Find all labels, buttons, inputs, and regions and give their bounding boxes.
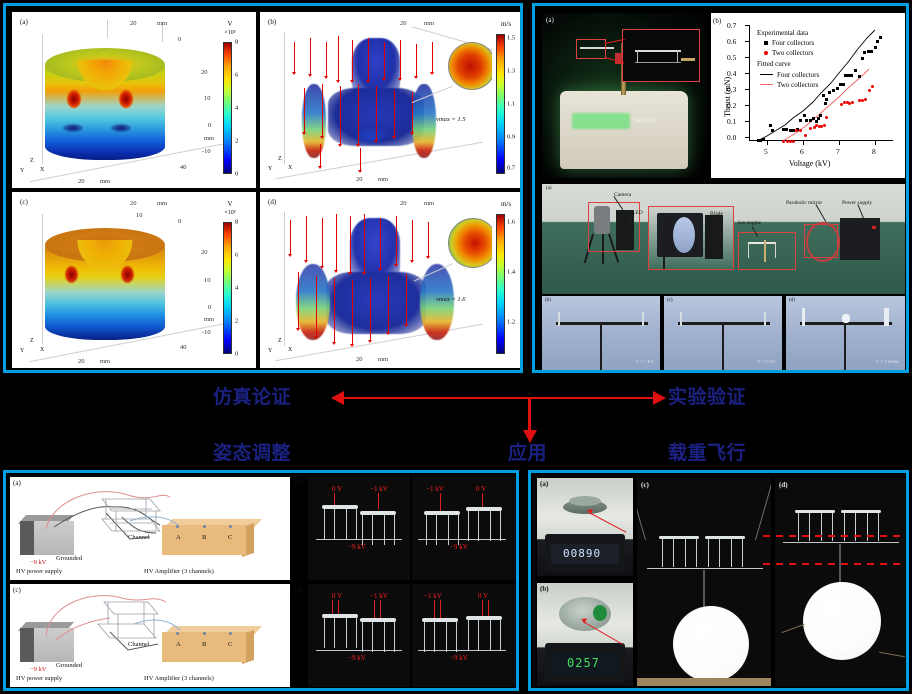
colorbar-c-exponent: ×10³ (214, 210, 246, 216)
colorbar-d-title: m/s (494, 200, 518, 208)
simulation-panel-inner: (a) 20 mm 0 20 10 0 (6, 6, 520, 370)
triad-z: Z (278, 338, 282, 344)
axis-unit: mm (157, 20, 167, 27)
axis-tick: 10 (204, 277, 211, 284)
supply-name-c: HV power supply (16, 675, 62, 682)
subpanel-d: (d) (260, 192, 520, 368)
setup-label-camera: Camera (614, 192, 631, 198)
balance-photo-a: (a) 00890 (537, 478, 633, 576)
axis-tick: 20 (78, 178, 85, 185)
payload-panel-inner: (a) 00890 (b) 0257 (531, 473, 906, 688)
subpanel-d-tag: (d) (268, 198, 276, 206)
flow-frame-d: (d) V = Vbreak (786, 296, 905, 370)
axis-tick: 20 (78, 358, 85, 365)
chart-tag: (b) (713, 17, 721, 25)
colorbar-tick: 2 (235, 318, 238, 325)
axis-tick: 0 (208, 304, 211, 311)
schematic-c-wires (10, 584, 290, 687)
flow-frame-c: (c) V = 8 kV (664, 296, 782, 370)
schematic-c-tag: (c) (13, 586, 21, 594)
label-application: 应用 (508, 438, 547, 465)
colorbar-tick: 4 (235, 285, 238, 292)
colorbar-b (496, 34, 505, 174)
colorbar-b-card: m/s 1.5 1.3 1.1 0.9 0.7 (492, 12, 520, 188)
colorbar-tick: 6 (235, 252, 238, 259)
colorbar-tick: 6 (235, 72, 238, 79)
alignment-guide-upper (763, 535, 909, 537)
triad-x: X (288, 347, 292, 353)
payload-ball-d (803, 582, 881, 660)
colorbar-tick: 0 (235, 171, 238, 178)
axis-tick: 20 (201, 249, 208, 256)
axis-tick: 20 (130, 200, 137, 207)
setup-label-ion-engine: Ion engine (738, 220, 761, 226)
label-simulation: 仿真论证 (213, 382, 291, 409)
thruster-photo-d-left: 0 V −1 kV −9 kV (308, 584, 410, 687)
triad-z: Z (30, 158, 34, 164)
colorbar-tick: 8 (235, 219, 238, 226)
schematic-a: (a) Channel A B C (10, 477, 290, 580)
voltage-annotation: 0 V (476, 485, 486, 493)
photo-pair-b-tag: (b) (295, 479, 303, 487)
setup-label-led: LED (632, 210, 643, 216)
voltage-annotation: 0 V (332, 485, 342, 493)
voltage-annotation: −1 kV (370, 592, 388, 600)
voltage-annotation: −1 kV (426, 485, 444, 493)
axis-unit: mm (100, 178, 110, 185)
zoom-inset (622, 29, 700, 82)
balance-photo-tag: (a) (546, 16, 554, 24)
flow-frame-b: (b) V = 7 kV (542, 296, 660, 370)
payload-flight-panel: (a) 00890 (b) 0257 (528, 470, 909, 691)
figure-canvas: (a) 20 mm 0 20 10 0 (0, 0, 912, 694)
label-experiment: 实验验证 (668, 382, 746, 409)
axis-tick: 20 (356, 176, 363, 183)
setup-label-blade: Blade (710, 211, 723, 217)
attitude-control-panel: (a) Channel A B C (3, 470, 519, 691)
arrow-head-left (331, 391, 344, 405)
axis-tick: 20 (400, 200, 407, 207)
voltage-annotation: −1 kV (370, 485, 388, 493)
arrow-shaft-horizontal (344, 397, 656, 400)
subpanel-a: (a) 20 mm 0 20 10 0 (12, 12, 256, 188)
axis-tick: -10 (202, 329, 211, 336)
axis-unit: mm (157, 200, 167, 207)
subpanel-b-tag: (b) (268, 18, 276, 26)
axis-unit: mm (424, 200, 434, 207)
triad-y: Y (268, 166, 272, 172)
axis-unit: mm (100, 358, 110, 365)
subpanel-b: (b) (260, 12, 520, 188)
schematic-a-tag: (a) (13, 479, 21, 487)
legend-item-two-curve: Two collectors (757, 80, 819, 90)
legend-item-four-scatter: Four collectors (757, 38, 819, 48)
colorbar-tick: 0.9 (507, 134, 515, 141)
colorbar-a-title: V (218, 20, 242, 28)
experimental-setup-photo: (a) Camera LED Blade (542, 184, 905, 294)
balance-reading-b: 0257 (567, 656, 600, 670)
axis-tick: 40 (180, 344, 187, 351)
photo-pair-d-tag: (d) (295, 586, 303, 594)
flight-photo-c: (c) (637, 478, 771, 686)
legend-item-four-curve: Four collectors (757, 70, 819, 80)
colorbar-tick: 8 (235, 39, 238, 46)
axis-tick: 10 (136, 212, 143, 219)
colorbar-tick: 2 (235, 138, 238, 145)
flight-photo-d: (d) (775, 478, 906, 686)
balance-b-tag: (b) (540, 585, 549, 593)
vmax-label-d: vmax = 1.6 (436, 296, 465, 303)
flight-d-tag: (d) (779, 481, 788, 489)
colorbar-d-card: m/s 1.6 1.4 1.2 (492, 192, 520, 368)
colorbar-tick: 1.4 (507, 269, 515, 276)
flight-c-tag: (c) (641, 481, 649, 489)
legend-label: Two collectors (772, 48, 813, 58)
thrust-panel-inner: (a) balance (535, 6, 906, 370)
balance-reading-a: 00890 (563, 547, 601, 560)
payload-ball-c (673, 606, 749, 682)
thrust-chart: (b) 0.7 0.6 0.5 0.4 0.3 0.2 0.1 0.0 (711, 13, 905, 178)
label-attitude-control: 姿态调整 (213, 438, 291, 465)
triad-x: X (40, 347, 44, 353)
balance-photo-b: (b) 0257 (537, 583, 633, 686)
setup-photo-tag: (a) (546, 186, 552, 191)
legend-label: Four collectors (777, 70, 819, 80)
axis-tick: -10 (202, 148, 211, 155)
axis-tick: 40 (180, 164, 187, 171)
zoom-region-box (576, 39, 606, 59)
grounded-label-c: Grounded (56, 662, 82, 669)
potential-cylinder-a (45, 48, 165, 160)
triad-y: Y (268, 348, 272, 354)
legend-swatch-line-red (760, 84, 773, 85)
colorbar-a-exponent: ×10³ (214, 30, 246, 36)
legend-header-fitted: Fitted curve (757, 59, 819, 69)
axis-tick: 20 (400, 20, 407, 27)
subpanel-c: (c) 20 mm 10 0 20 10 0 mm -10 (12, 192, 256, 368)
simulation-panel: (a) 20 mm 0 20 10 0 (3, 3, 523, 373)
colorbar-tick: 0.7 (507, 165, 515, 172)
colorbar-c-title: V (218, 200, 242, 208)
balance-label: balance (634, 116, 655, 124)
voltage-annotation: −1 kV (424, 592, 442, 600)
axis-tick: 0 (208, 122, 211, 129)
legend-label: Four collectors (772, 38, 814, 48)
legend-swatch-circle (764, 51, 768, 55)
potential-cylinder-c (45, 228, 165, 340)
amplifier-name-c: HV Amplifier (3 channels) (144, 675, 214, 682)
flow-frame-b-voltage: V = 7 kV (635, 360, 654, 365)
velocity-plume-d (296, 218, 456, 350)
plume-inset-d (448, 218, 498, 268)
legend-swatch-square (764, 41, 768, 45)
axis-tick: 0 (178, 218, 181, 225)
colorbar-tick: 1.2 (507, 319, 515, 326)
voltage-annotation: 0 V (478, 592, 488, 600)
triad-x: X (40, 167, 44, 173)
amplifier-name-a: HV Amplifier (3 channels) (144, 568, 214, 575)
alignment-guide-lower (763, 563, 909, 565)
subpanel-a-tag: (a) (20, 18, 28, 26)
photo-pair-b: (b) 0 V −1 kV −9 kV (294, 477, 516, 580)
label-payload-flight: 载重飞行 (668, 438, 746, 465)
arrow-shaft-vertical (528, 397, 531, 431)
axis-tick: 20 (201, 69, 208, 76)
arrow-head-right (653, 391, 666, 405)
colorbar-tick: 1.3 (507, 68, 515, 75)
attitude-panel-inner: (a) Channel A B C (6, 473, 516, 688)
flow-frame-b-tag: (b) (545, 298, 551, 303)
balance-a-tag: (a) (540, 480, 548, 488)
photo-pair-d: (d) 0 V −1 kV −9 kV (294, 584, 516, 687)
colorbar-tick: 1.1 (507, 101, 515, 108)
subpanel-c-tag: (c) (20, 198, 28, 206)
supply-name-a: HV power supply (16, 568, 62, 575)
flow-frame-d-tag: (d) (789, 298, 795, 303)
supply-voltage-c: −9 kV (30, 666, 47, 673)
flow-frame-c-voltage: V = 8 kV (757, 360, 776, 365)
colorbar-b-title: m/s (494, 20, 518, 28)
triad-x: X (288, 165, 292, 171)
axis-unit: mm (378, 176, 388, 183)
thruster-photo-d-right: −1 kV 0 V −9 kV (412, 584, 516, 687)
thruster-photo-b-right: −1 kV 0 V −9 kV (412, 477, 516, 580)
triad-z: Z (278, 156, 282, 162)
triad-y: Y (20, 168, 24, 174)
colorbar-tick: 1.5 (507, 35, 515, 42)
axis-unit: mm (204, 316, 214, 323)
thrust-measurement-panel: (a) balance (532, 3, 909, 373)
schematic-a-wires (10, 477, 290, 580)
axis-tick: 0 (178, 36, 181, 43)
chart-legend: Experimental data Four collectors Two co… (757, 27, 819, 90)
voltage-annotation: 0 V (332, 592, 342, 600)
colorbar-tick: 1.6 (507, 219, 515, 226)
schematic-c: (c) Channel A B C (10, 584, 290, 687)
legend-item-two-scatter: Two collectors (757, 48, 819, 58)
axis-tick: 20 (130, 20, 137, 27)
axis-tick: 20 (356, 356, 363, 363)
axis-unit: mm (424, 20, 434, 27)
colorbar-a (223, 42, 232, 174)
plume-inset-b (448, 42, 496, 90)
colorbar-d (496, 214, 505, 354)
axis-unit: mm (204, 135, 214, 142)
triad-z: Z (30, 338, 34, 344)
flow-frame-d-voltage: V = Vbreak (876, 360, 899, 365)
vmax-label-b: vmax = 1.5 (436, 116, 465, 123)
supply-voltage-a: −9 kV (30, 559, 47, 566)
axis-unit: mm (378, 356, 388, 363)
legend-label: Two collectors (777, 80, 818, 90)
colorbar-c (223, 222, 232, 354)
colorbar-a-symbol: V (227, 20, 232, 28)
legend-header-experimental: Experimental data (757, 28, 819, 38)
center-arrow-diagram: 仿真论证 实验验证 姿态调整 应用 载重飞行 (0, 376, 912, 466)
legend-swatch-line-black (760, 74, 773, 75)
flow-frame-c-tag: (c) (667, 298, 673, 303)
colorbar-tick: 4 (235, 105, 238, 112)
triad-y: Y (20, 348, 24, 354)
thruster-photo-b-left: 0 V −1 kV −9 kV (308, 477, 410, 580)
balance-photo: (a) balance (542, 13, 707, 178)
grounded-label-a: Grounded (56, 555, 82, 562)
axis-tick: 10 (204, 95, 211, 102)
colorbar-tick: 0 (235, 351, 238, 358)
